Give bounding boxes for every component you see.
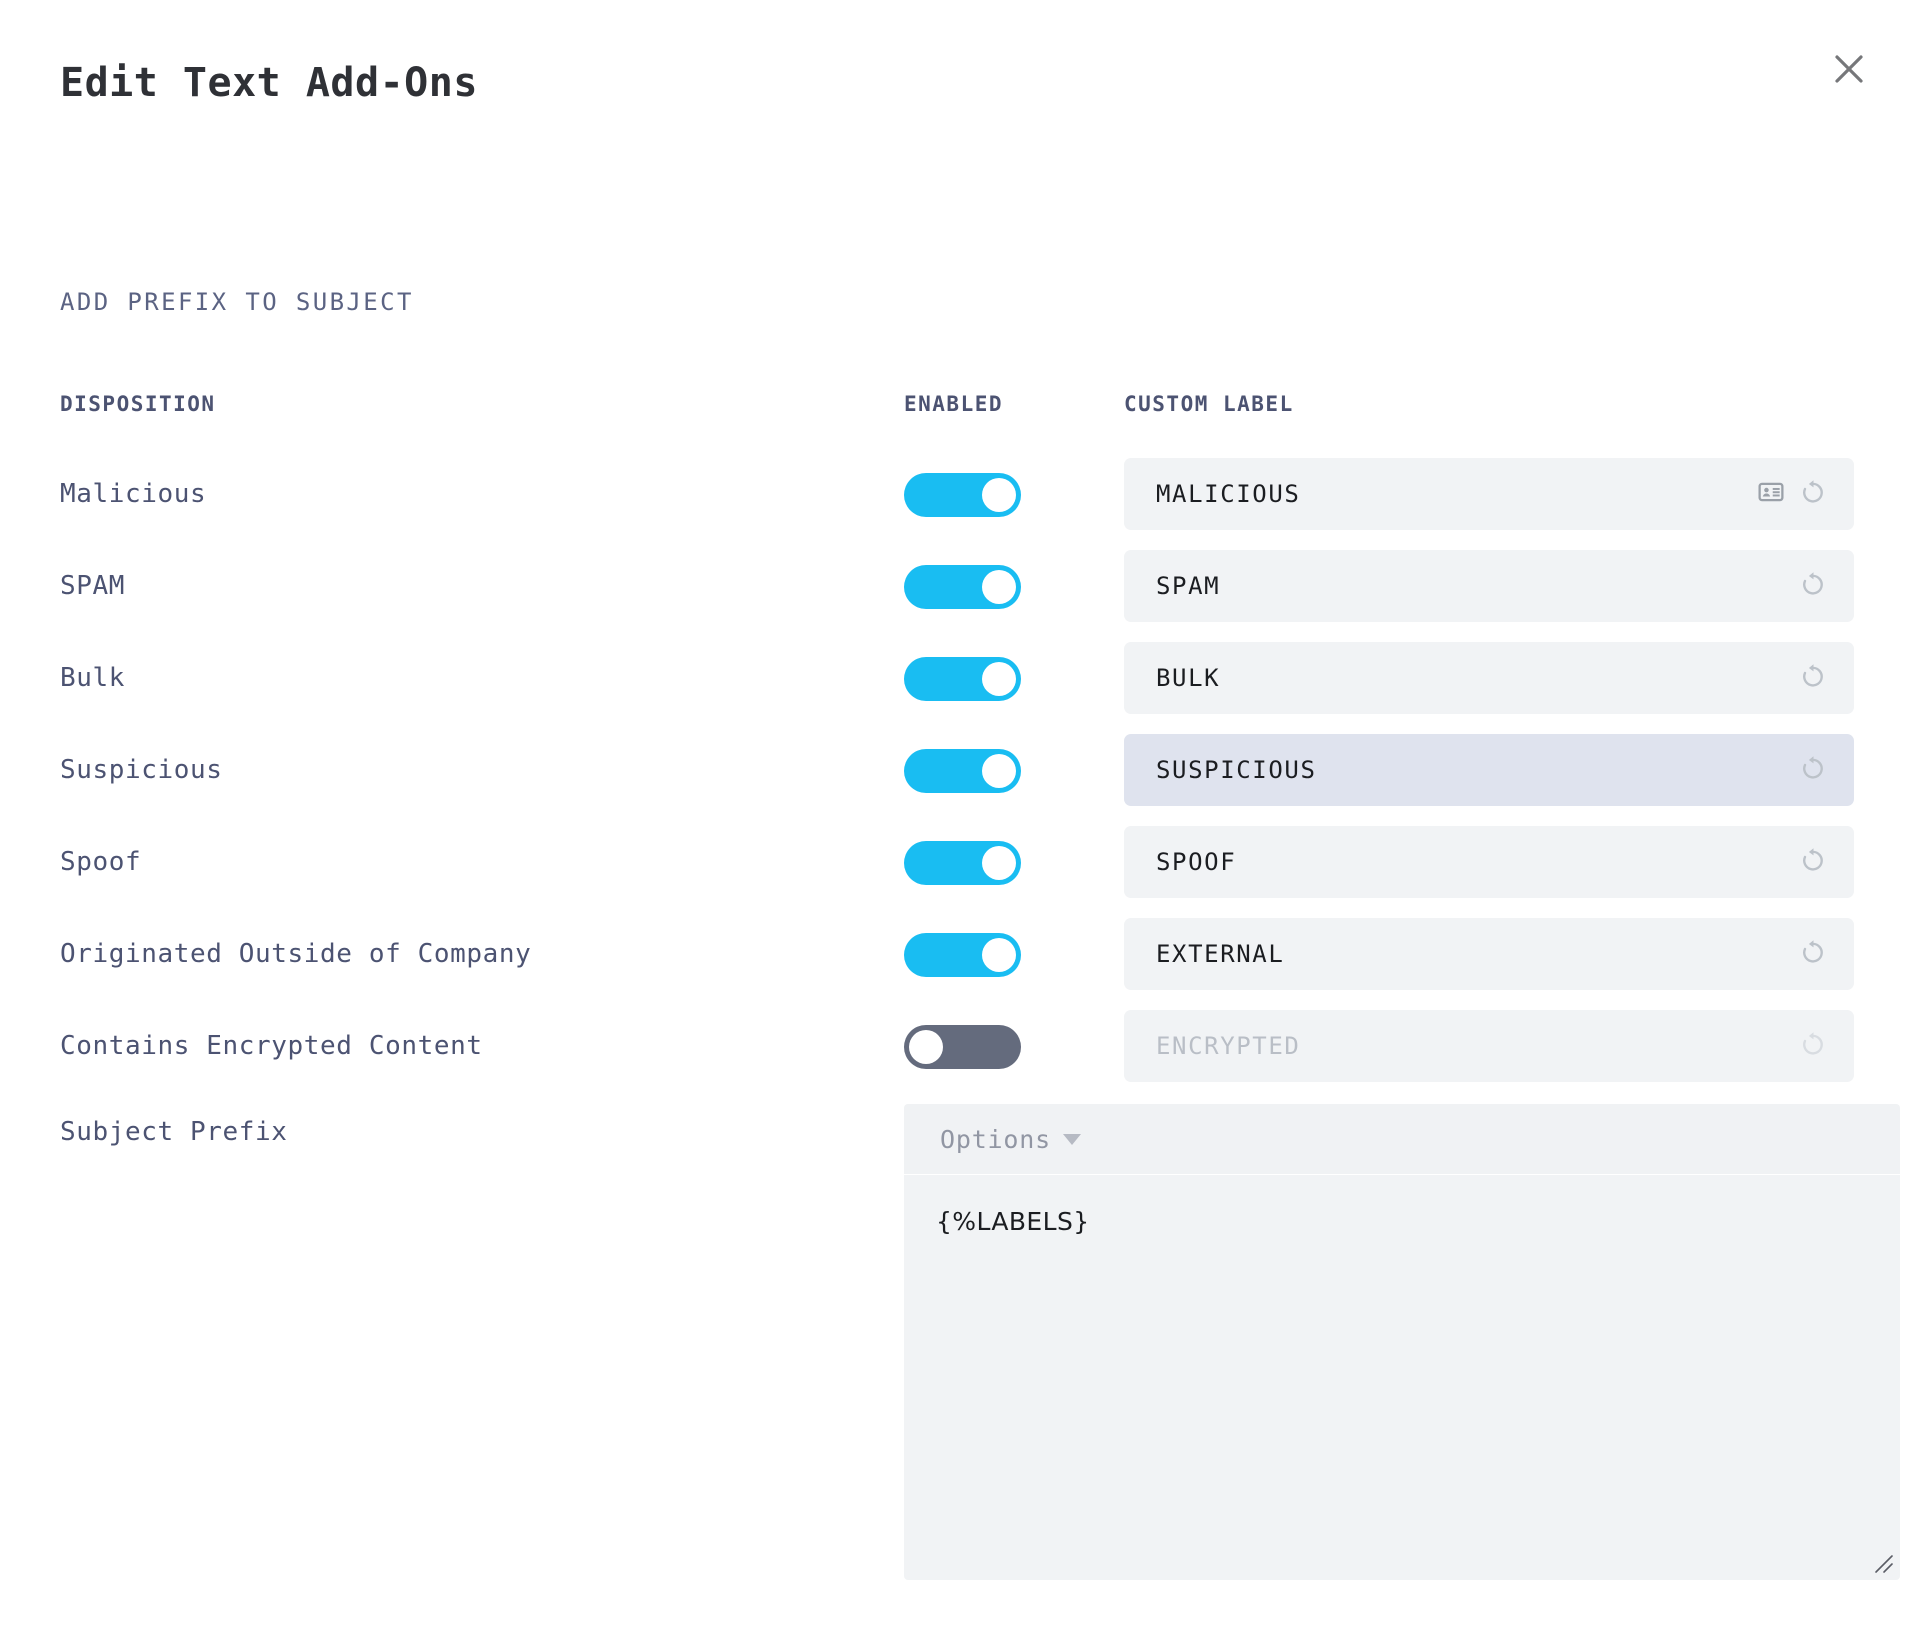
toggle-knob	[982, 570, 1016, 604]
custom-label-input[interactable]: MALICIOUS	[1124, 458, 1854, 530]
table-row: SuspiciousSUSPICIOUS	[0, 734, 1908, 806]
disposition-label: Originated Outside of Company	[60, 918, 531, 990]
table-row: Originated Outside of CompanyEXTERNAL	[0, 918, 1908, 990]
resize-handle-icon[interactable]	[1872, 1552, 1894, 1574]
enabled-toggle[interactable]	[904, 1025, 1021, 1069]
subject-prefix-textarea-value: {%LABELS}	[936, 1207, 1090, 1236]
toggle-knob	[982, 846, 1016, 880]
reset-icon[interactable]	[1798, 661, 1828, 695]
custom-label-icons	[1798, 845, 1854, 879]
reset-icon[interactable]	[1798, 845, 1828, 879]
reset-icon[interactable]	[1798, 937, 1828, 971]
custom-label-icons	[1798, 1029, 1854, 1063]
toggle-knob	[909, 1030, 943, 1064]
contact-card-icon[interactable]	[1758, 479, 1784, 509]
disposition-label: Bulk	[60, 642, 125, 714]
custom-label-value: BULK	[1124, 664, 1798, 692]
reset-icon[interactable]	[1798, 477, 1828, 511]
custom-label-input[interactable]: SPAM	[1124, 550, 1854, 622]
disposition-label: Malicious	[60, 458, 206, 530]
custom-label-icons	[1798, 661, 1854, 695]
disposition-label: Contains Encrypted Content	[60, 1010, 483, 1082]
subject-prefix-textarea[interactable]: {%LABELS}	[904, 1175, 1900, 1580]
custom-label-value: SPAM	[1124, 572, 1798, 600]
custom-label-value: SPOOF	[1124, 848, 1798, 876]
enabled-toggle[interactable]	[904, 565, 1021, 609]
custom-label-input[interactable]: EXTERNAL	[1124, 918, 1854, 990]
disposition-label: Suspicious	[60, 734, 223, 806]
custom-label-value: ENCRYPTED	[1124, 1032, 1798, 1060]
toggle-knob	[982, 478, 1016, 512]
custom-label-input: ENCRYPTED	[1124, 1010, 1854, 1082]
enabled-toggle[interactable]	[904, 749, 1021, 793]
custom-label-value: SUSPICIOUS	[1124, 756, 1798, 784]
custom-label-value: EXTERNAL	[1124, 940, 1798, 968]
editor-toolbar: Options	[904, 1104, 1900, 1174]
enabled-toggle[interactable]	[904, 657, 1021, 701]
custom-label-icons	[1798, 569, 1854, 603]
reset-icon	[1798, 1029, 1828, 1063]
options-dropdown[interactable]: Options	[940, 1125, 1081, 1154]
enabled-toggle[interactable]	[904, 841, 1021, 885]
chevron-down-icon	[1063, 1134, 1081, 1145]
toggle-knob	[982, 662, 1016, 696]
table-row: SPAMSPAM	[0, 550, 1908, 622]
custom-label-icons	[1798, 753, 1854, 787]
custom-label-value: MALICIOUS	[1124, 480, 1758, 508]
toggle-knob	[982, 754, 1016, 788]
subject-prefix-label: Subject Prefix	[60, 1117, 288, 1147]
toggle-knob	[982, 938, 1016, 972]
table-row: SpoofSPOOF	[0, 826, 1908, 898]
custom-label-icons	[1758, 477, 1854, 511]
table-row: Contains Encrypted ContentENCRYPTED	[0, 1010, 1908, 1082]
custom-label-input[interactable]: SPOOF	[1124, 826, 1854, 898]
disposition-label: Spoof	[60, 826, 141, 898]
custom-label-input[interactable]: SUSPICIOUS	[1124, 734, 1854, 806]
options-dropdown-label: Options	[940, 1125, 1051, 1154]
reset-icon[interactable]	[1798, 569, 1828, 603]
custom-label-input[interactable]: BULK	[1124, 642, 1854, 714]
enabled-toggle[interactable]	[904, 473, 1021, 517]
reset-icon[interactable]	[1798, 753, 1828, 787]
table-row: BulkBULK	[0, 642, 1908, 714]
custom-label-icons	[1798, 937, 1854, 971]
subject-prefix-editor: Options {%LABELS}	[904, 1104, 1900, 1580]
disposition-label: SPAM	[60, 550, 125, 622]
table-row: MaliciousMALICIOUS	[0, 458, 1908, 530]
enabled-toggle[interactable]	[904, 933, 1021, 977]
